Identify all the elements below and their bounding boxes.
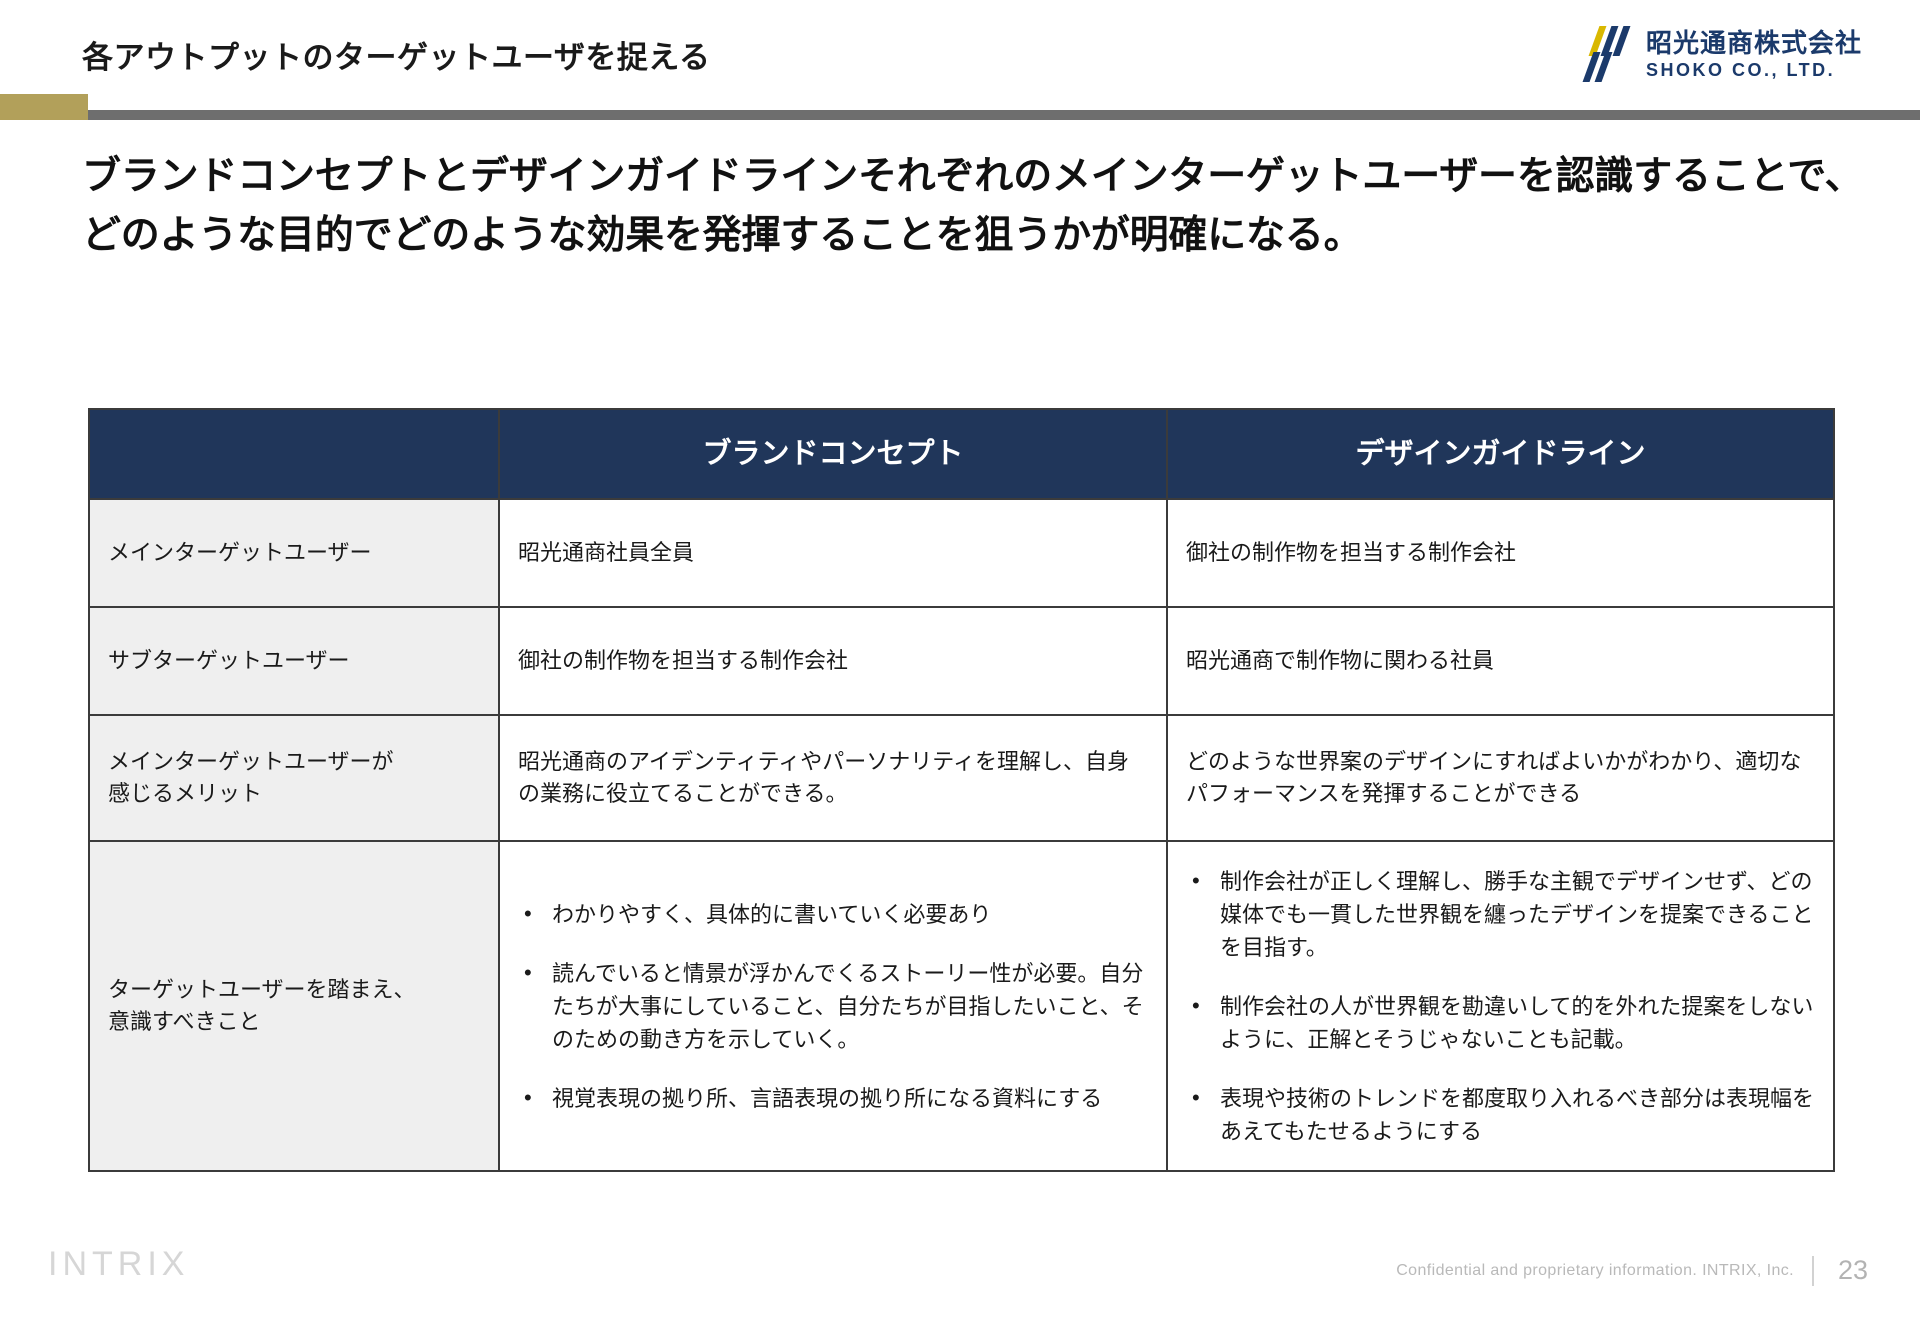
page-number: 23 [1832,1255,1868,1286]
page-title: 各アウトプットのターゲットユーザを捉える [82,32,710,77]
footer-divider [1812,1256,1814,1286]
row-label-sub-target: サブターゲットユーザー [89,607,499,715]
row-label-merit-line2: 感じるメリット [108,781,262,806]
brand-awareness-bullet-list: わかりやすく、具体的に書いていく必要あり 読んでいると情景が浮かんでくるストーリ… [518,898,1148,1115]
list-item: わかりやすく、具体的に書いていく必要あり [518,898,1148,931]
logo-name-jp: 昭光通商株式会社 [1646,30,1862,56]
cell-awareness-brand: わかりやすく、具体的に書いていく必要あり 読んでいると情景が浮かんでくるストーリ… [499,841,1167,1171]
table-row: メインターゲットユーザー 昭光通商社員全員 御社の制作物を担当する制作会社 [89,499,1834,607]
lead-statement: ブランドコンセプトとデザインガイドラインそれぞれのメインターゲットユーザーを認識… [82,148,1872,265]
list-item: 制作会社が正しく理解し、勝手な主観でデザインせず、どの媒体でも一貫した世界観を纏… [1186,865,1815,964]
table-row: メインターゲットユーザーが 感じるメリット 昭光通商のアイデンティティやパーソナ… [89,715,1834,841]
footer-right-group: Confidential and proprietary information… [1396,1255,1868,1286]
cell-sub-target-guide: 昭光通商で制作物に関わる社員 [1167,607,1834,715]
intrix-logo: INTRIX [48,1245,189,1284]
cell-main-target-guide: 御社の制作物を担当する制作会社 [1167,499,1834,607]
list-item: 制作会社の人が世界観を勘違いして的を外れた提案をしないように、正解とそうじゃない… [1186,990,1815,1056]
logo-text: 昭光通商株式会社 SHOKO CO., LTD. [1646,30,1862,79]
list-item: 読んでいると情景が浮かんでくるストーリー性が必要。自分たちが大事にしていること、… [518,957,1148,1056]
row-label-main-target: メインターゲットユーザー [89,499,499,607]
table-header-corner [89,409,499,499]
target-user-matrix: ブランドコンセプト デザインガイドライン メインターゲットユーザー 昭光通商社員… [88,408,1835,1172]
table-header-brand-concept: ブランドコンセプト [499,409,1167,499]
guide-awareness-bullet-list: 制作会社が正しく理解し、勝手な主観でデザインせず、どの媒体でも一貫した世界観を纏… [1186,865,1815,1148]
cell-merit-guide: どのような世界案のデザインにすればよいかがわかり、適切なパフォーマンスを発揮する… [1167,715,1834,841]
cell-merit-brand: 昭光通商のアイデンティティやパーソナリティを理解し、自身の業務に役立てることがで… [499,715,1167,841]
list-item: 視覚表現の拠り所、言語表現の拠り所になる資料にする [518,1082,1148,1115]
list-item: 表現や技術のトレンドを都度取り入れるべき部分は表現幅をあえてもたせるようにする [1186,1082,1815,1148]
slide-header: 各アウトプットのターゲットユーザを捉える 昭光通商株式会社 SHOKO CO.,… [0,0,1920,122]
table-row: サブターゲットユーザー 御社の制作物を担当する制作会社 昭光通商で制作物に関わる… [89,607,1834,715]
header-gray-rule [88,110,1920,120]
cell-sub-target-brand: 御社の制作物を担当する制作会社 [499,607,1167,715]
row-label-awareness: ターゲットユーザーを踏まえ、 意識すべきこと [89,841,499,1171]
table-header-design-guideline: デザインガイドライン [1167,409,1834,499]
table-header-row: ブランドコンセプト デザインガイドライン [89,409,1834,499]
row-label-merit: メインターゲットユーザーが 感じるメリット [89,715,499,841]
row-label-merit-line1: メインターゲットユーザーが [108,749,394,774]
confidential-note: Confidential and proprietary information… [1396,1262,1794,1280]
table-row: ターゲットユーザーを踏まえ、 意識すべきこと わかりやすく、具体的に書いていく必… [89,841,1834,1171]
row-label-awareness-line1: ターゲットユーザーを踏まえ、 [108,977,416,1002]
shoko-logo: 昭光通商株式会社 SHOKO CO., LTD. [1588,26,1862,82]
slide-footer: INTRIX Confidential and proprietary info… [0,1219,1920,1329]
header-gold-accent [0,94,88,120]
row-label-awareness-line2: 意識すべきこと [108,1009,260,1034]
logo-slash-marks-icon [1588,26,1634,82]
cell-awareness-guide: 制作会社が正しく理解し、勝手な主観でデザインせず、どの媒体でも一貫した世界観を纏… [1167,841,1834,1171]
cell-main-target-brand: 昭光通商社員全員 [499,499,1167,607]
logo-name-en: SHOKO CO., LTD. [1646,61,1862,79]
